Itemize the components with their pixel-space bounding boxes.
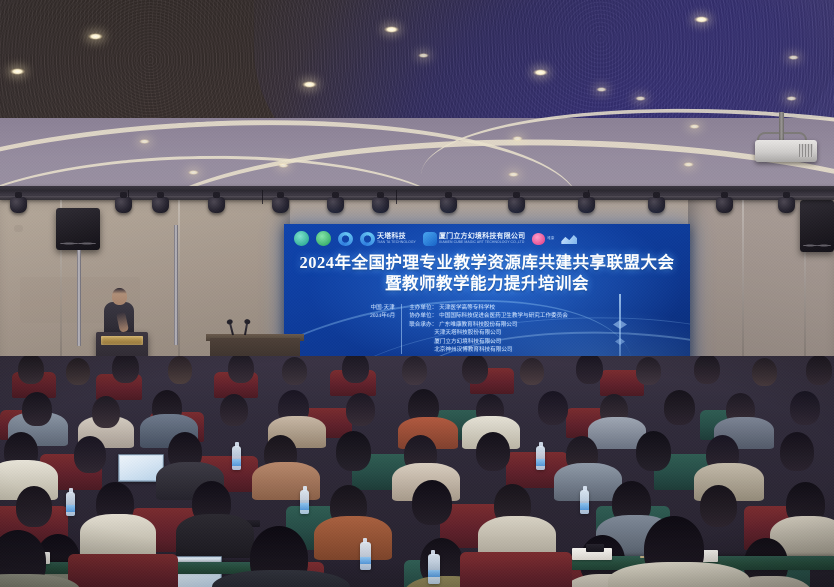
tianta-logo-subtext: TIAN TA TECHNOLOGY xyxy=(377,241,416,244)
organizer-value: 中国国际科技促进会医药卫生教学与研究工作委员会 xyxy=(439,312,568,320)
meta-location: 中国·天津 xyxy=(370,304,395,312)
attendee-head xyxy=(462,356,488,384)
stage-light xyxy=(578,197,595,213)
attendee-head xyxy=(74,436,106,473)
attendee-head xyxy=(664,390,695,425)
stage-light xyxy=(778,197,795,213)
organizer-value: 广东唯康教育科技股份有限公司 xyxy=(439,321,517,329)
water-bottle xyxy=(66,492,75,516)
attendee-head xyxy=(346,393,375,426)
attendee-body xyxy=(608,562,750,587)
stage-light xyxy=(327,197,344,213)
truss-cable xyxy=(396,190,397,204)
attendee-head xyxy=(520,358,544,385)
organizer-line: 北京神州汉博教育科技有限公司 xyxy=(409,346,568,354)
audience-row xyxy=(0,390,834,432)
cube-fantasy-logo-subtext: XIAMEN CUBE MAGIC ART TECHNOLOGY CO.,LTD xyxy=(439,241,525,244)
stage-light xyxy=(716,197,733,213)
association-emblem-logo xyxy=(316,231,331,246)
ceiling-downlight xyxy=(508,172,519,177)
ceiling-downlight xyxy=(786,96,797,101)
attendee-head xyxy=(16,486,52,527)
attendee-head xyxy=(780,432,814,471)
ceiling-downlight xyxy=(533,69,548,76)
ceiling-downlight xyxy=(188,170,199,175)
conference-hall-photo: 天塔科技 TIAN TA TECHNOLOGY 厦门立方幻境科技有限公司 XIA… xyxy=(0,0,834,587)
audience-row-foreground xyxy=(0,570,834,587)
attendee-head xyxy=(168,356,192,384)
wall-fixture xyxy=(14,225,23,232)
attendee-head xyxy=(18,356,44,384)
organizer-key: 协办单位： xyxy=(409,312,437,320)
organizer-line: 主办单位：天津医学高等专科学校 xyxy=(409,304,568,312)
water-bottle xyxy=(300,490,309,514)
screen-meta-block: 中国·天津 2024年6月 主办单位：天津医学高等专科学校 协办单位：中国国际科… xyxy=(370,304,670,354)
tianta-logo-text: 天塔科技 xyxy=(377,233,416,240)
attendee-head xyxy=(752,358,777,386)
ceiling-downlight xyxy=(694,16,709,23)
attendee-head xyxy=(342,356,369,383)
truss-cable xyxy=(262,190,263,204)
water-bottle xyxy=(580,490,589,514)
screen-title-line1: 2024年全国护理专业教学资源库共建共享联盟大会 xyxy=(284,252,690,273)
attendee-head xyxy=(576,356,603,384)
podium-plaque xyxy=(101,336,143,345)
ceiling-downlight xyxy=(88,33,103,40)
cube-fantasy-logo-text: 厦门立方幻境科技有限公司 xyxy=(439,233,525,240)
ceiling-downlight xyxy=(683,162,694,167)
attendee-head xyxy=(336,431,371,471)
ceiling xyxy=(0,0,834,215)
wave-brand-logo xyxy=(561,231,577,246)
organizer-line: 天津天塔科技股份有限公司 xyxy=(409,329,568,337)
stage-light xyxy=(272,197,289,213)
ceiling-downlight xyxy=(788,55,799,60)
audience-row xyxy=(0,356,834,392)
attendee-head xyxy=(22,392,52,426)
ceiling-downlight xyxy=(10,68,25,75)
attendee-head xyxy=(790,391,820,425)
water-bottle xyxy=(360,542,371,570)
attendee-head xyxy=(412,480,452,525)
attendee-head xyxy=(282,357,307,385)
light-stand-pole xyxy=(174,225,178,345)
ceiling-downlight xyxy=(384,26,399,33)
stage-light xyxy=(208,197,225,213)
organizer-key: 联合承办： xyxy=(409,321,437,329)
attendee-head xyxy=(476,432,510,471)
pink-brand-logo-subtext: 唯康 xyxy=(547,237,554,240)
organizer-line: 联合承办：广东唯康教育科技股份有限公司 xyxy=(409,321,568,329)
stage-light xyxy=(508,197,525,213)
screen-title-line2: 暨教师教学能力提升培训会 xyxy=(284,273,690,294)
organizer-value: 天津医学高等专科学校 xyxy=(439,304,495,312)
ceiling-downlight xyxy=(278,163,289,168)
ceiling-downlight xyxy=(418,53,429,58)
attendee-head xyxy=(66,358,90,385)
attendee-head xyxy=(538,391,568,425)
attendee-head xyxy=(112,356,139,383)
attendee-head xyxy=(636,431,671,471)
audience-area xyxy=(0,356,834,587)
stage-light xyxy=(10,197,27,213)
stage-light xyxy=(115,197,132,213)
ceiling-downlight xyxy=(596,87,607,92)
water-bottle xyxy=(428,554,440,584)
tianta-technology-logo: 天塔科技 TIAN TA TECHNOLOGY xyxy=(360,231,416,246)
attendee-head xyxy=(92,396,120,428)
organizer-key: 主办单位： xyxy=(409,304,437,312)
ceiling-downlight xyxy=(689,124,700,129)
ceiling-projector xyxy=(755,140,817,162)
attendee-head xyxy=(220,394,248,426)
organizer-line: 协办单位：中国国际科技促进会医药卫生教学与研究工作委员会 xyxy=(409,312,568,320)
attendee-body xyxy=(212,570,350,587)
ceiling-downlight xyxy=(139,139,150,144)
cube-fantasy-logo: 厦门立方幻境科技有限公司 XIAMEN CUBE MAGIC ART TECHN… xyxy=(423,231,525,246)
attendee-head xyxy=(700,485,737,527)
organizer-value: 北京神州汉博教育科技有限公司 xyxy=(434,346,512,354)
projector-mount-pole xyxy=(779,112,784,142)
screen-title: 2024年全国护理专业教学资源库共建共享联盟大会 暨教师教学能力提升培训会 xyxy=(284,252,690,294)
ceiling-downlight xyxy=(512,136,523,141)
water-bottle xyxy=(536,446,545,470)
presenter-head xyxy=(112,288,127,305)
water-bottle xyxy=(232,446,241,470)
attendee-head xyxy=(806,356,832,385)
organizer-value: 厦门立方幻境科技有限公司 xyxy=(434,338,501,346)
attendee-head xyxy=(402,356,427,385)
pink-brand-logo: 唯康 xyxy=(532,231,554,246)
screen-meta-organizers: 主办单位：天津医学高等专科学校 协办单位：中国国际科技促进会医药卫生教学与研究工… xyxy=(409,304,568,354)
stage-light xyxy=(440,197,457,213)
audience-row xyxy=(0,480,834,536)
stage-light xyxy=(372,197,389,213)
audience-row xyxy=(0,432,834,480)
stage-light xyxy=(152,197,169,213)
speaker-stand-pole xyxy=(77,250,81,346)
wall-speaker-left xyxy=(56,208,100,250)
smartphone xyxy=(586,544,604,552)
swirl-brand-logo xyxy=(338,231,353,246)
organizer-value: 天津天塔科技股份有限公司 xyxy=(434,329,501,337)
attendee-head xyxy=(636,357,661,385)
stage-light xyxy=(648,197,665,213)
ceiling-downlight xyxy=(635,96,646,101)
screen-meta-location-date: 中国·天津 2024年6月 xyxy=(370,304,402,354)
organizer-line: 厦门立方幻境科技有限公司 xyxy=(409,338,568,346)
wall-speaker-right xyxy=(800,200,834,252)
attendee-head xyxy=(228,356,254,383)
school-emblem-logo xyxy=(294,231,309,246)
meta-date: 2024年6月 xyxy=(370,312,395,320)
sponsor-logo-row: 天塔科技 TIAN TA TECHNOLOGY 厦门立方幻境科技有限公司 XIA… xyxy=(294,229,680,248)
ceiling-downlight xyxy=(302,81,317,88)
attendee-head xyxy=(694,356,720,384)
